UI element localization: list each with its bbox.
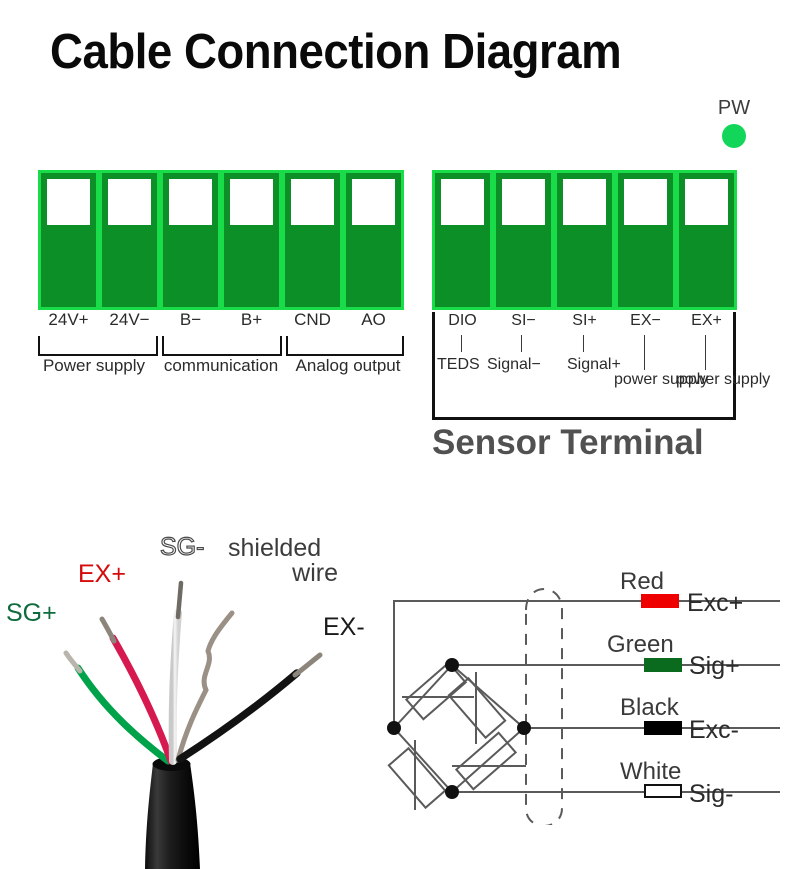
wire-color-label-black: Black — [620, 696, 679, 720]
pin-label-b-plus: B+ — [221, 310, 282, 330]
group-label-power-supply: Power supply — [30, 356, 158, 376]
terminal-pin-24v-minus[interactable] — [99, 170, 160, 310]
desc-power-supply-ex-plus: power supply — [676, 372, 738, 389]
wire-red-bare-end — [102, 619, 114, 641]
desc-signal-plus: Signal+ — [567, 356, 621, 374]
shielded-word-1: shielded — [228, 534, 321, 562]
cable-label-shielded-wire: shielded wire — [228, 536, 338, 586]
desc-power-supply-ex-minus: power supply — [614, 372, 676, 389]
screw-slot — [685, 179, 728, 225]
wire-color-label-green: Green — [607, 633, 674, 657]
terminal-pin-si-minus[interactable] — [493, 170, 554, 310]
resistor-bottom-right — [452, 733, 526, 789]
terminal-pin-cnd[interactable] — [282, 170, 343, 310]
pin-label-si-plus: SI+ — [554, 312, 615, 330]
power-led-icon — [722, 124, 746, 148]
tick-dio — [461, 335, 462, 352]
terminal-pin-b-minus[interactable] — [160, 170, 221, 310]
node-sig-plus — [445, 658, 459, 672]
screw-slot — [441, 179, 484, 225]
wire-swatch-green — [644, 658, 682, 672]
power-indicator-label: PW — [706, 98, 762, 118]
sensor-terminal-heading: Sensor Terminal — [432, 425, 762, 460]
pin-label-ao: AO — [343, 310, 404, 330]
controller-pin-labels: 24V+ 24V− B− B+ CND AO — [38, 310, 404, 330]
page-title: Cable Connection Diagram — [50, 28, 701, 77]
screw-slot — [47, 179, 90, 225]
screw-slot — [108, 179, 151, 225]
cable-label-ex-minus: EX- — [323, 615, 365, 640]
bracket-communication — [162, 336, 282, 356]
screw-slot — [291, 179, 334, 225]
bridge-circuit-diagram: Red Exc+ Green Sig+ Black Exc- White Sig… — [382, 560, 790, 825]
wire-shield-braid — [178, 613, 232, 760]
terminal-pin-si-plus[interactable] — [554, 170, 615, 310]
controller-group-labels: Power supply communication Analog output — [30, 356, 412, 376]
node-exc-plus — [387, 721, 401, 735]
desc-signal-minus: Signal− — [487, 356, 541, 374]
pin-label-ex-minus: EX− — [615, 312, 676, 330]
pin-label-cnd: CND — [282, 310, 343, 330]
terminal-label-sig-plus: Sig+ — [689, 654, 740, 679]
screw-slot — [352, 179, 395, 225]
wire-swatch-black — [644, 721, 682, 735]
wire-color-label-white: White — [620, 760, 681, 784]
cable-label-sg-plus: SG+ — [6, 601, 57, 626]
tick-si-minus — [521, 335, 522, 352]
wire-swatch-white — [644, 784, 682, 798]
terminal-pin-ex-plus[interactable] — [676, 170, 737, 310]
tick-si-plus — [583, 335, 584, 352]
pin-label-24v-minus: 24V− — [99, 310, 160, 330]
pin-label-dio: DIO — [432, 312, 493, 330]
node-exc-minus — [517, 721, 531, 735]
screw-slot — [502, 179, 545, 225]
terminal-pin-ex-minus[interactable] — [615, 170, 676, 310]
pin-label-si-minus: SI− — [493, 312, 554, 330]
group-label-analog-output: Analog output — [284, 356, 412, 376]
screw-slot — [169, 179, 212, 225]
screw-slot — [624, 179, 667, 225]
bracket-analog-output — [286, 336, 404, 356]
tick-ex-minus — [644, 335, 645, 370]
pin-label-b-minus: B− — [160, 310, 221, 330]
wire-black — [180, 673, 297, 759]
desc-teds: TEDS — [437, 356, 480, 374]
terminal-pin-ao[interactable] — [343, 170, 404, 310]
wire-black-bare-end — [295, 655, 320, 675]
wire-green-bare-end — [66, 653, 80, 671]
terminal-pin-24v-plus[interactable] — [38, 170, 99, 310]
screw-slot — [230, 179, 273, 225]
cable-illustration: SG+ EX+ SG- shielded wire EX- — [0, 505, 400, 869]
pin-label-ex-plus: EX+ — [676, 312, 737, 330]
terminal-pin-b-plus[interactable] — [221, 170, 282, 310]
screw-slot — [563, 179, 606, 225]
cable-jacket — [145, 763, 200, 869]
wire-color-label-red: Red — [620, 570, 664, 594]
terminal-label-sig-minus: Sig- — [689, 782, 733, 807]
wire-swatch-red — [641, 594, 679, 608]
power-indicator: PW — [706, 98, 762, 148]
shielded-word-2: wire — [228, 561, 338, 586]
terminal-label-exc-plus: Exc+ — [687, 591, 743, 616]
wire-white-bare-end — [178, 583, 181, 617]
terminal-label-exc-minus: Exc- — [689, 718, 739, 743]
node-sig-minus — [445, 785, 459, 799]
wire-white — [173, 613, 178, 761]
terminal-pin-dio[interactable] — [432, 170, 493, 310]
controller-terminal-block — [38, 170, 404, 310]
cable-label-ex-plus: EX+ — [78, 562, 126, 587]
pin-label-24v-plus: 24V+ — [38, 310, 99, 330]
bracket-power-supply — [38, 336, 158, 356]
tick-ex-plus — [705, 335, 706, 370]
cable-sleeve — [526, 589, 562, 825]
sensor-pin-labels: DIO SI− SI+ EX− EX+ — [432, 312, 736, 330]
cable-label-sg-minus: SG- — [160, 535, 204, 560]
sensor-terminal-block — [432, 170, 737, 310]
group-label-communication: communication — [158, 356, 284, 376]
